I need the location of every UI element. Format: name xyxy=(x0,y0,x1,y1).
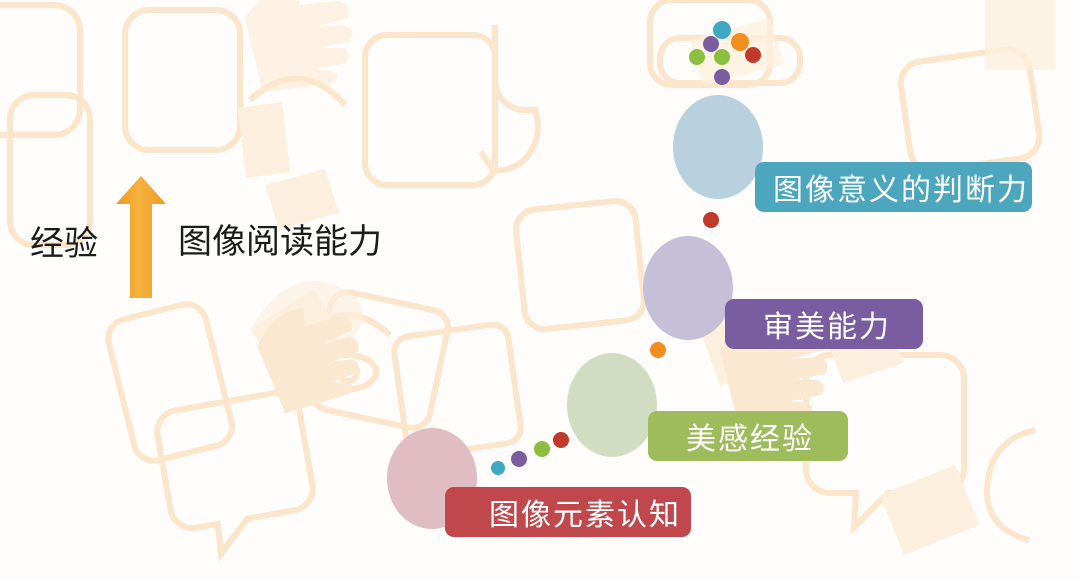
dot-orange xyxy=(650,342,666,358)
dot-burst-purple-bottom xyxy=(714,69,730,85)
step-circle-aesthetic-ability xyxy=(643,236,733,340)
dot-burst-red-right xyxy=(745,47,761,63)
step-label-aesthetic-ability: 审美能力 xyxy=(763,302,891,346)
up-arrow-icon xyxy=(114,174,168,300)
dot-teal xyxy=(491,461,505,475)
step-label-meaning-judgement: 图像意义的判断力 xyxy=(773,165,1029,209)
step-label-element-cognition: 图像元素认知 xyxy=(489,490,681,534)
step-bar-meaning-judgement[interactable]: 图像意义的判断力 xyxy=(755,162,1032,212)
image-reading-ability-label: 图像阅读能力 xyxy=(178,226,382,260)
dot-burst-green-center xyxy=(714,49,730,65)
dot-red xyxy=(553,432,569,448)
step-circle-aesthetic-experience xyxy=(567,353,657,457)
slide-canvas: 经验 图像阅读能力 图像元素认知 美感经验 审美能力 图 xyxy=(0,0,1080,580)
step-bar-aesthetic-experience[interactable]: 美感经验 xyxy=(648,411,848,461)
dot-green xyxy=(534,441,550,457)
dot-burst-orange-right xyxy=(731,33,749,51)
dot-purple xyxy=(511,451,527,467)
step-bar-element-cognition[interactable]: 图像元素认知 xyxy=(445,487,691,537)
experience-label: 经验 xyxy=(30,228,98,262)
step-bar-aesthetic-ability[interactable]: 审美能力 xyxy=(725,299,923,349)
step-label-aesthetic-experience: 美感经验 xyxy=(686,414,814,458)
dot-burst-blue-top xyxy=(713,21,731,39)
dot-burst-green-left xyxy=(689,49,705,65)
dot-red-upper xyxy=(703,212,719,228)
step-circle-meaning-judgement xyxy=(673,95,763,199)
